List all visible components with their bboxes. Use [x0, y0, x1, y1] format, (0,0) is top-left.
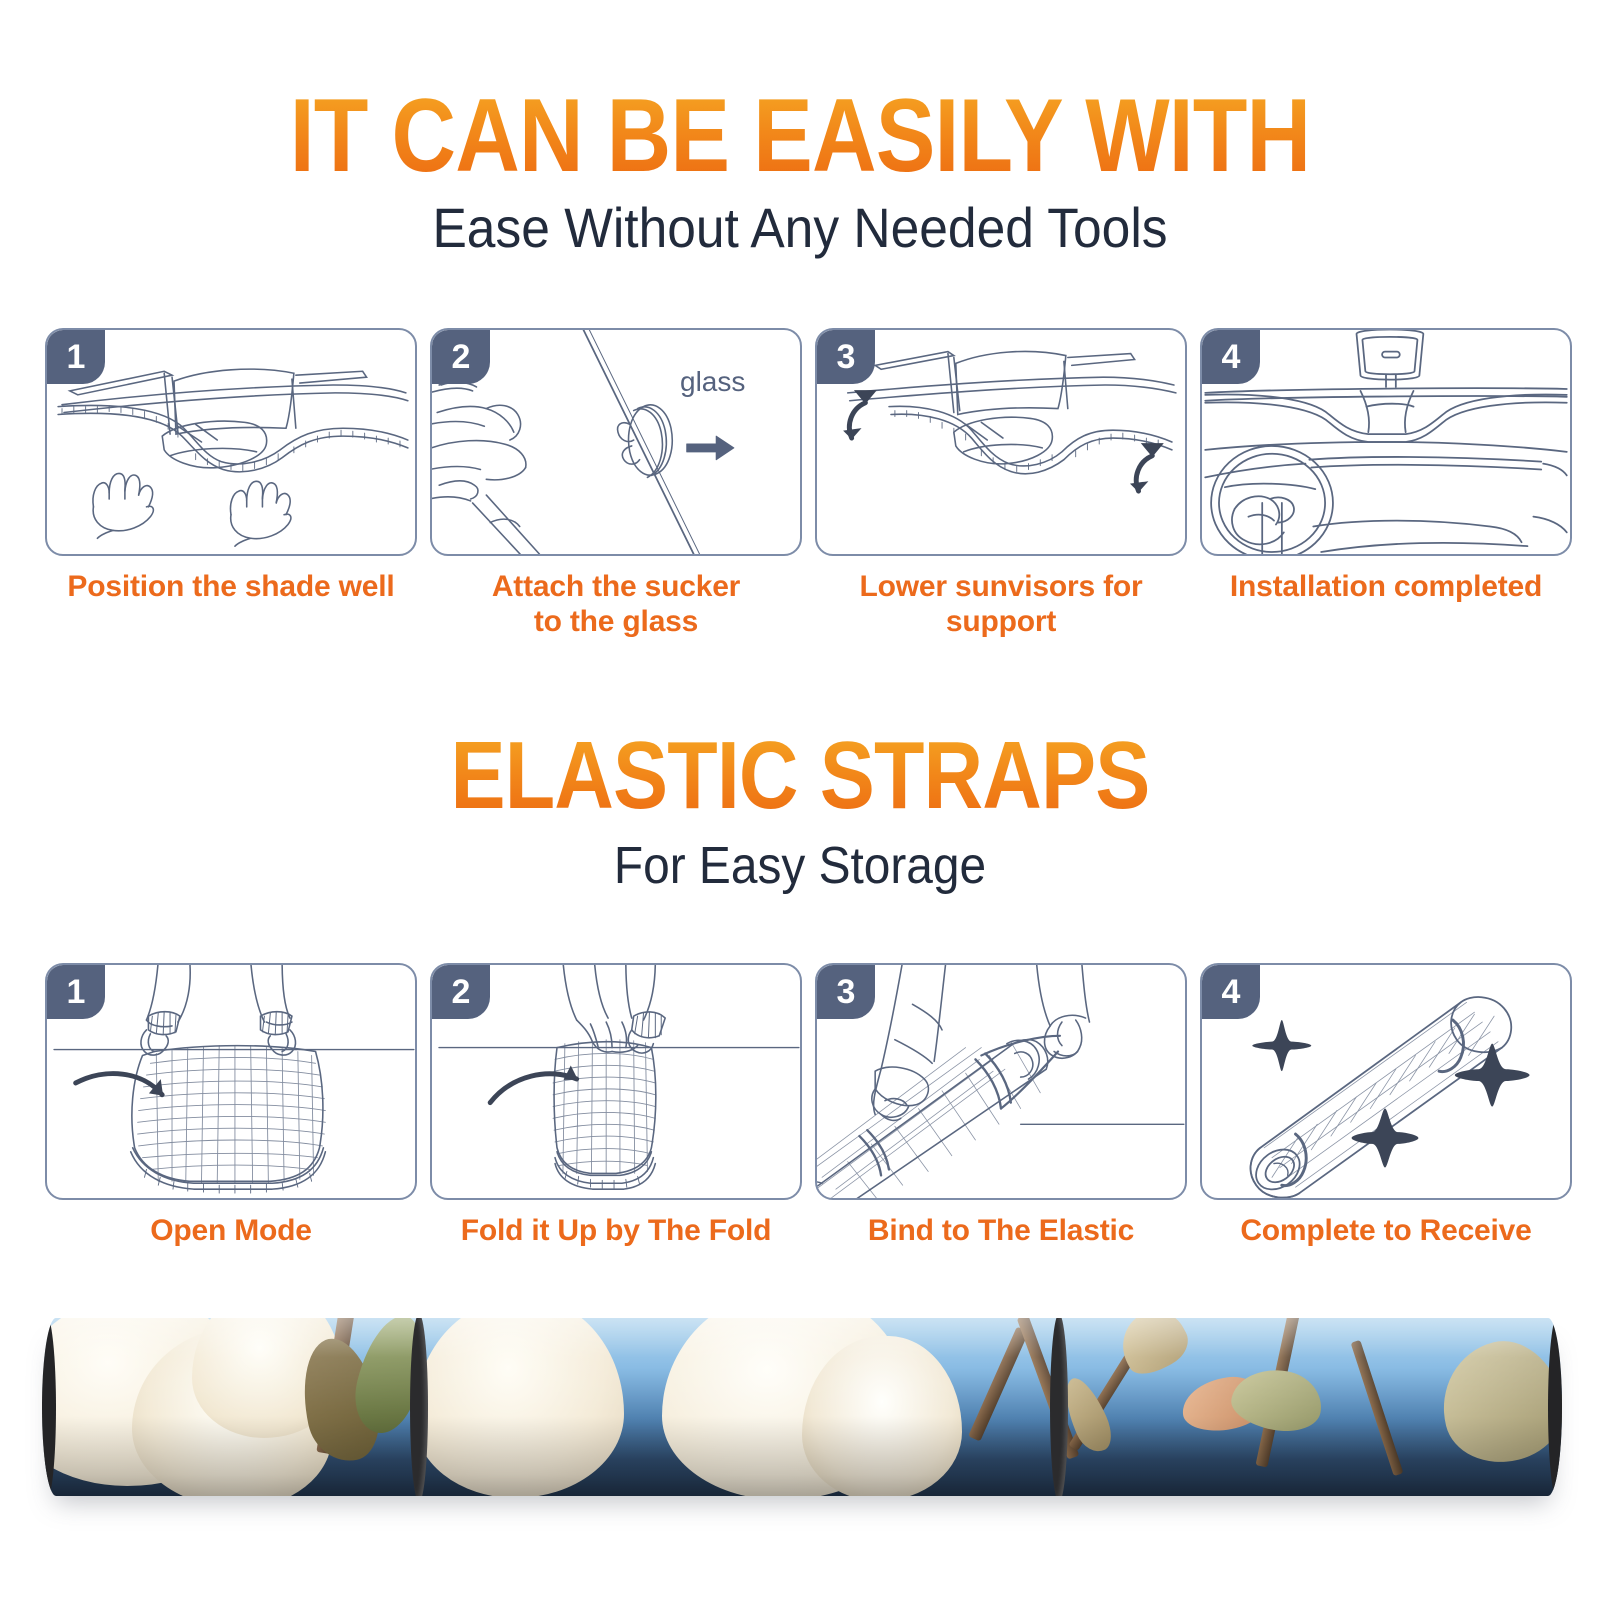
magnolia-photo [42, 1318, 1562, 1496]
step-card-storage-2: 2 [430, 963, 802, 1249]
product-photo-roll [42, 1318, 1562, 1518]
installation-steps-row: 1 [45, 328, 1555, 640]
roll-right-end [1548, 1318, 1562, 1496]
step-caption: Complete to Receive [1200, 1214, 1572, 1249]
step-number-badge: 4 [1202, 965, 1260, 1019]
step-number-badge: 3 [817, 965, 875, 1019]
step-number-badge: 4 [1202, 330, 1260, 384]
cylinder-shading [42, 1318, 1562, 1496]
step-illustration-card: 1 [45, 963, 417, 1200]
step-number-badge: 2 [432, 330, 490, 384]
step-number-badge: 2 [432, 965, 490, 1019]
step-card-install-3: 3 [815, 328, 1187, 640]
rolled-sunshade-photo [42, 1318, 1562, 1496]
step-card-storage-3: 3 [815, 963, 1187, 1249]
step-caption: Open Mode [45, 1214, 417, 1249]
step-number-badge: 1 [47, 330, 105, 384]
section-1-subheadline: Ease Without Any Needed Tools [64, 195, 1536, 260]
step-illustration-card: 3 [815, 963, 1187, 1200]
storage-steps-row: 1 [45, 963, 1555, 1249]
step-number-badge: 3 [817, 330, 875, 384]
step-card-storage-1: 1 [45, 963, 417, 1249]
step-caption: Fold it Up by The Fold [430, 1214, 802, 1249]
step-illustration-card: 4 [1200, 963, 1572, 1200]
step-caption: Bind to The Elastic [815, 1214, 1187, 1249]
step-card-storage-4: 4 [1200, 963, 1572, 1249]
step-caption: Installation completed [1200, 570, 1572, 605]
glass-annotation-label: glass [680, 366, 745, 398]
step-caption: Attach the sucker to the glass [430, 570, 802, 640]
step-illustration-card: 1 [45, 328, 417, 556]
elastic-band [410, 1318, 428, 1496]
step-card-install-1: 1 [45, 328, 417, 640]
step-illustration-card: 4 [1200, 328, 1572, 556]
step-number-badge: 1 [47, 965, 105, 1019]
product-infographic-page: IT CAN BE EASILY WITH Ease Without Any N… [0, 0, 1600, 1600]
step-illustration-card: 2 [430, 328, 802, 556]
step-card-install-4: 4 [1200, 328, 1572, 640]
step-illustration-card: 2 [430, 963, 802, 1200]
elastic-band [1050, 1318, 1068, 1496]
section-2-subheadline: For Easy Storage [64, 836, 1536, 896]
section-2-headline: ELASTIC STRAPS [112, 728, 1488, 824]
step-card-install-2: 2 [430, 328, 802, 640]
section-1-headline: IT CAN BE EASILY WITH [112, 84, 1488, 188]
step-illustration-card: 3 [815, 328, 1187, 556]
step-caption: Lower sunvisors for support [815, 570, 1187, 640]
step-caption: Position the shade well [45, 570, 417, 605]
